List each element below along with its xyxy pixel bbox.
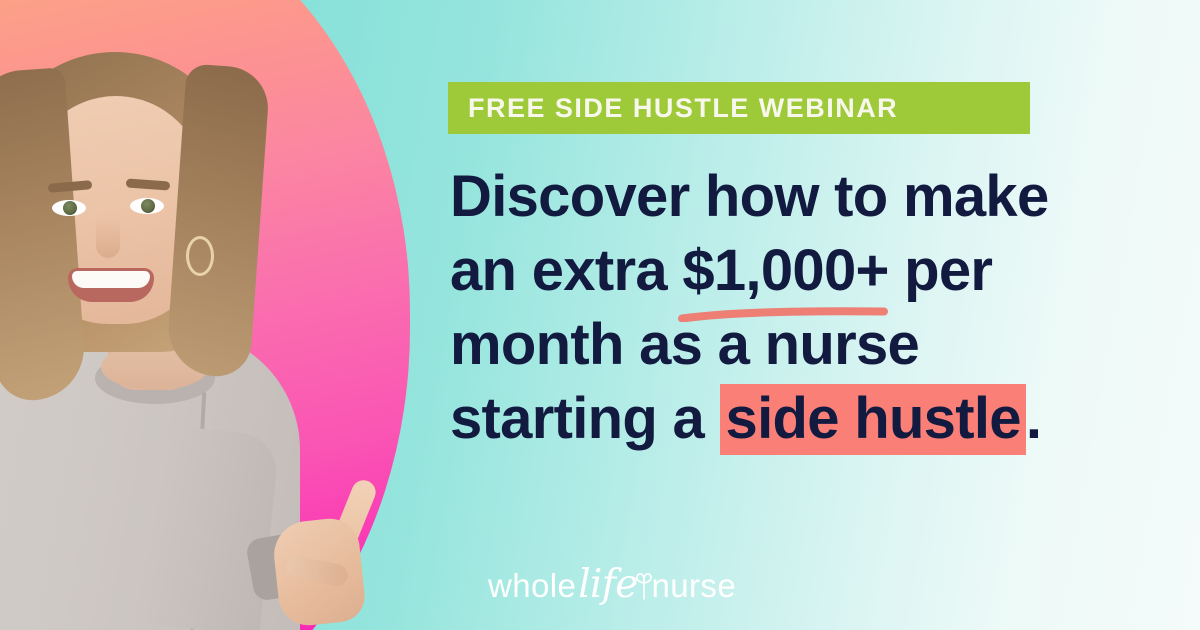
logo-word-life: life xyxy=(578,562,637,607)
smiling-mouth xyxy=(68,268,154,302)
eye-left xyxy=(52,200,86,216)
headline-block: Discover how to make an extra $1,000+ pe… xyxy=(450,160,1150,456)
content-column: FREE SIDE HUSTLE WEBINAR Discover how to… xyxy=(448,0,1168,630)
webinar-badge-label: FREE SIDE HUSTLE WEBINAR xyxy=(468,93,898,124)
logo-word-nurse: nurse xyxy=(652,567,737,605)
nose xyxy=(96,218,120,258)
webinar-badge: FREE SIDE HUSTLE WEBINAR xyxy=(448,82,1030,134)
headline-line-3: month as a nurse xyxy=(450,308,1150,382)
promo-banner: FREE SIDE HUSTLE WEBINAR Discover how to… xyxy=(0,0,1200,630)
headline-line-4-prefix: starting a xyxy=(450,386,720,451)
headline-line-2: an extra $1,000+ per xyxy=(450,234,1150,308)
hoop-earring-icon xyxy=(186,236,214,276)
headline-line-2-prefix: an extra xyxy=(450,238,682,303)
presenter-photo xyxy=(0,0,400,630)
headline-line-4: starting a side hustle. xyxy=(450,382,1150,456)
leaf-sprig-icon xyxy=(633,570,655,600)
iris-right xyxy=(141,199,155,213)
headline-line-3-text: month as a nurse xyxy=(450,312,919,377)
headline-line-1-text: Discover how to make xyxy=(450,164,1049,229)
teeth xyxy=(72,271,150,288)
amount-text: $1,000+ xyxy=(682,238,888,303)
brand-logo: whole life nurse xyxy=(488,562,736,607)
headline-line-1: Discover how to make xyxy=(450,160,1150,234)
amount-emphasis: $1,000+ xyxy=(682,234,888,308)
logo-word-whole: whole xyxy=(488,567,576,605)
headline-line-4-suffix: . xyxy=(1026,386,1041,451)
arm xyxy=(140,424,280,630)
eye-right xyxy=(130,198,164,214)
headline-line-2-suffix: per xyxy=(889,238,993,303)
iris-left xyxy=(63,201,77,215)
side-hustle-highlight: side hustle xyxy=(720,384,1026,455)
